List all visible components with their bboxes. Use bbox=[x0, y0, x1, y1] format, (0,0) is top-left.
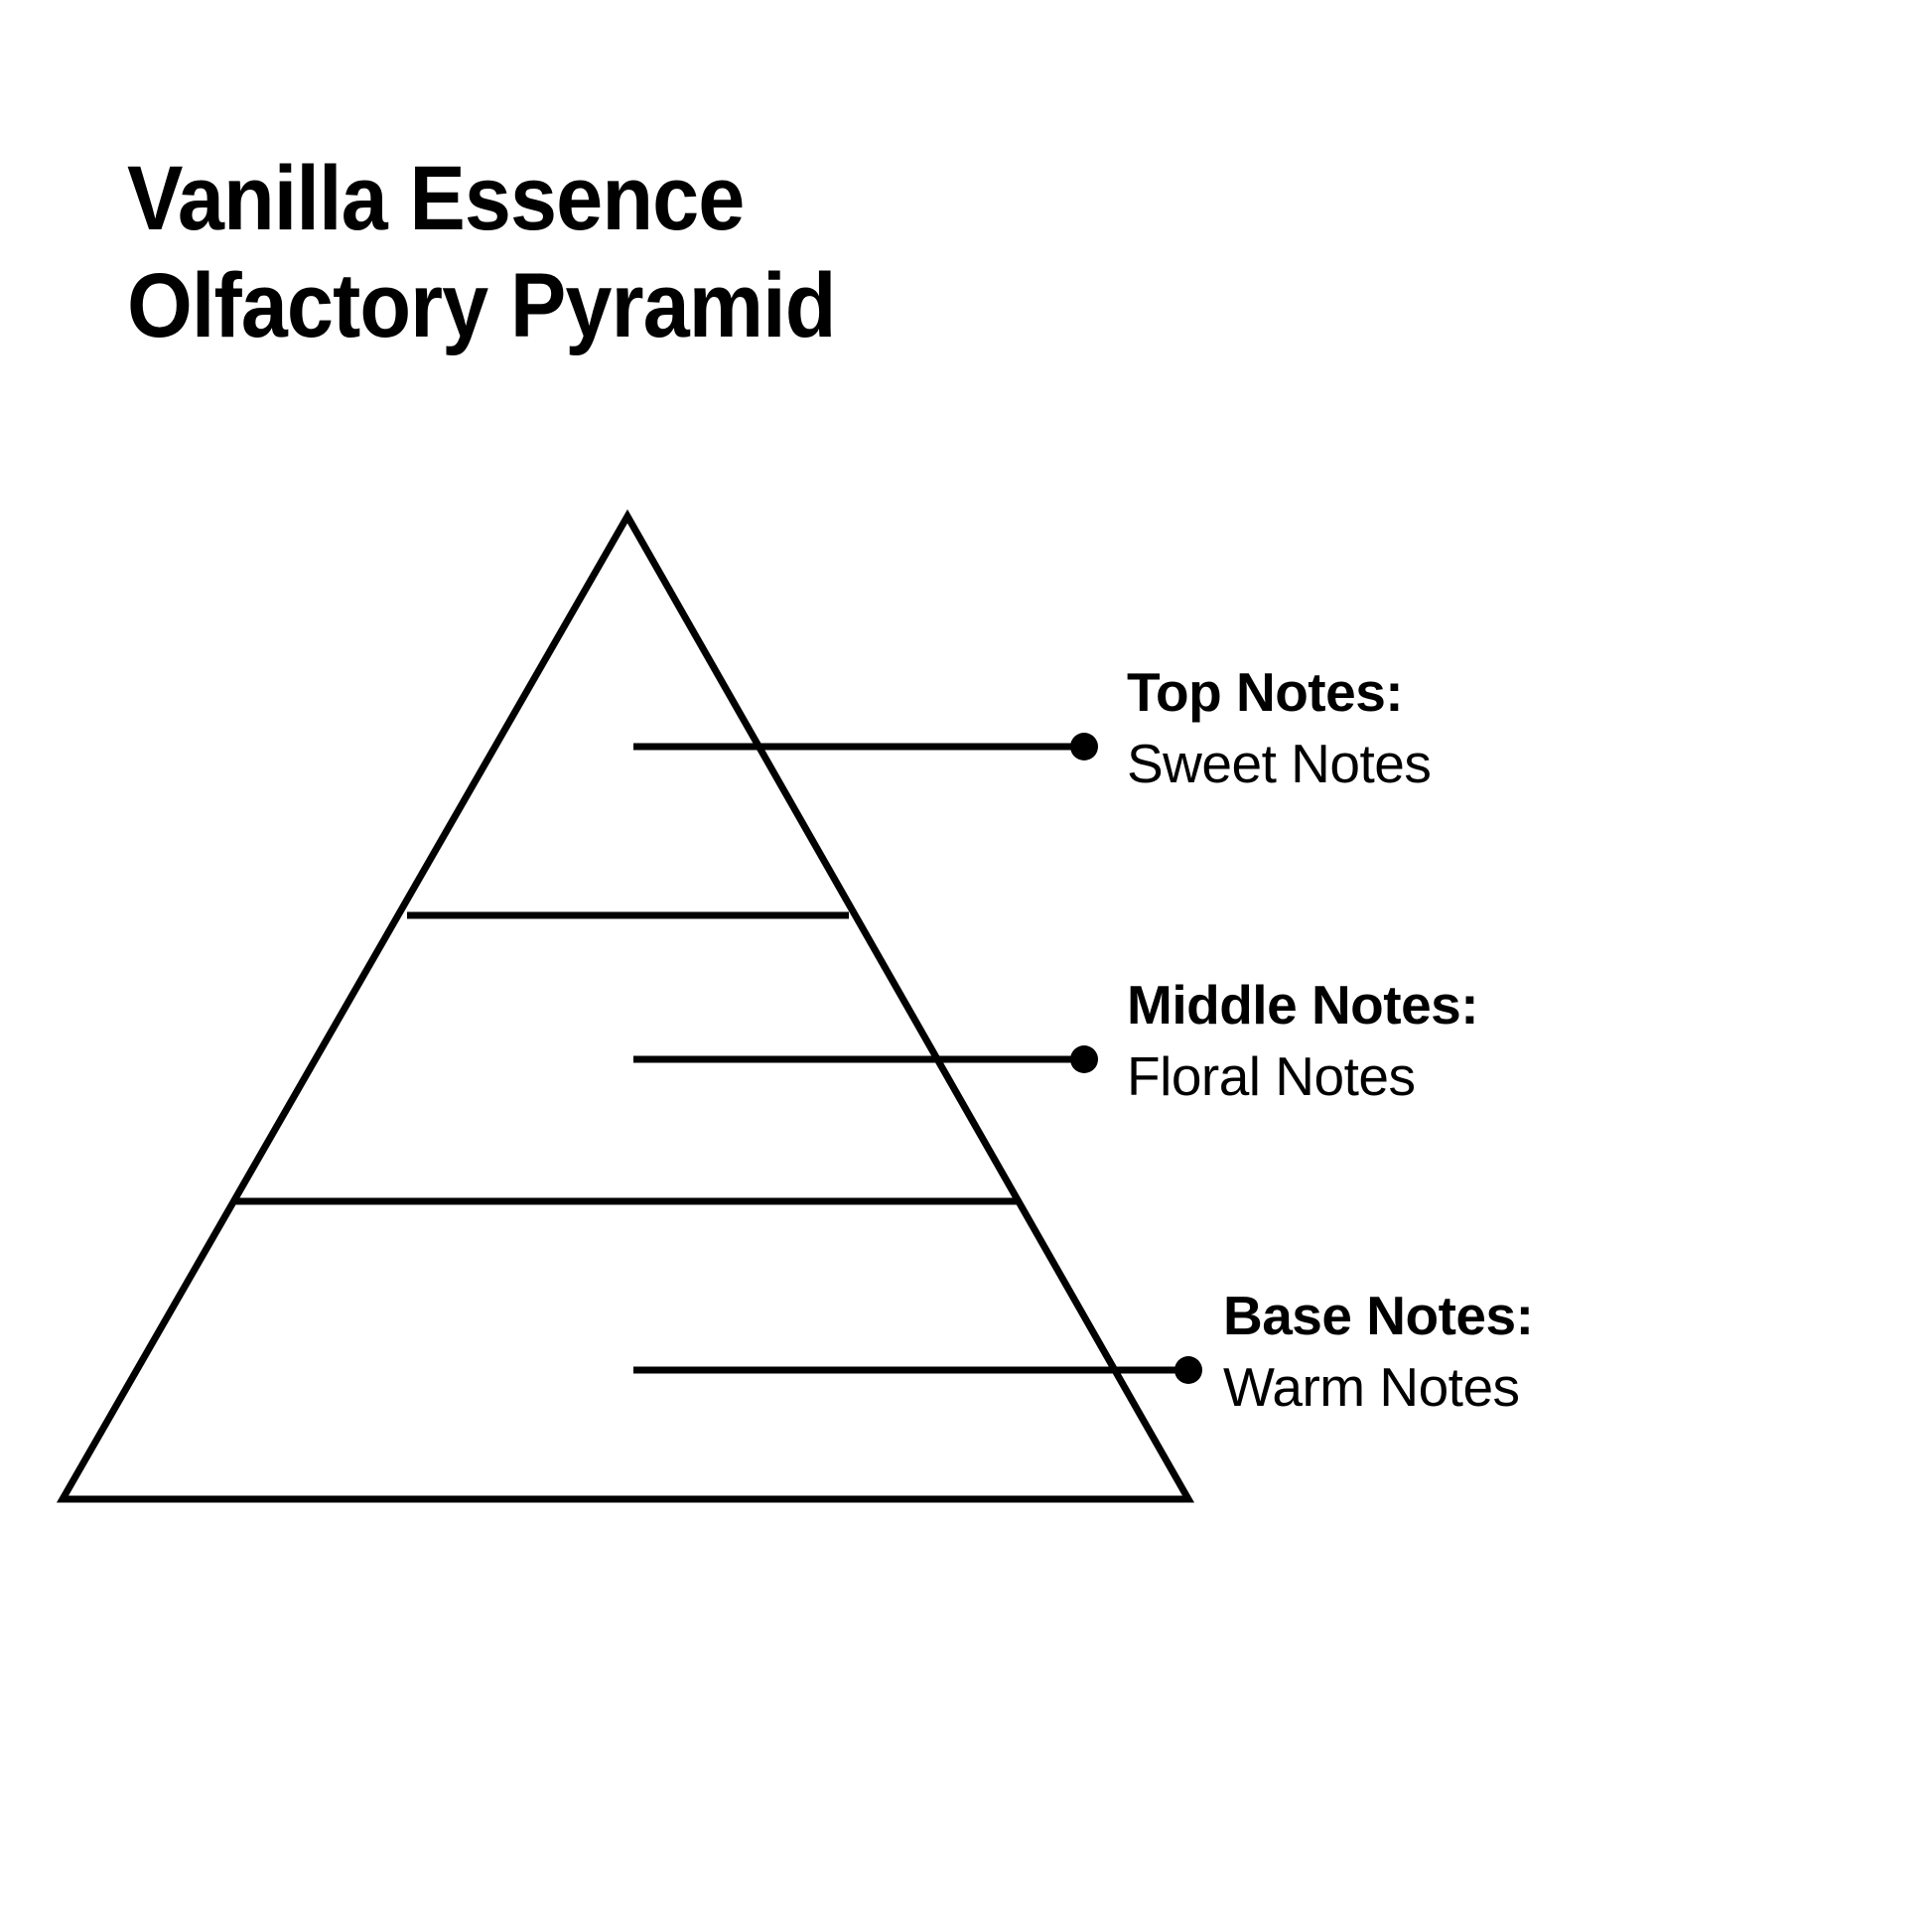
leader-dot-top-icon bbox=[1070, 733, 1098, 760]
callout-top-notes-heading: Top Notes: bbox=[1127, 657, 1431, 727]
callout-middle-notes: Middle Notes: Floral Notes bbox=[1127, 970, 1478, 1113]
leader-dot-middle-icon bbox=[1070, 1045, 1098, 1073]
leader-dot-base-icon bbox=[1174, 1356, 1202, 1384]
pyramid-outline bbox=[63, 516, 1188, 1499]
callout-base-notes: Base Notes: Warm Notes bbox=[1223, 1281, 1533, 1424]
callout-top-notes: Top Notes: Sweet Notes bbox=[1127, 657, 1431, 800]
callout-base-notes-heading: Base Notes: bbox=[1223, 1281, 1533, 1350]
callout-middle-notes-value: Floral Notes bbox=[1127, 1039, 1478, 1113]
pyramid-graphic bbox=[0, 0, 1932, 1932]
callout-base-notes-value: Warm Notes bbox=[1223, 1350, 1533, 1424]
olfactory-pyramid-diagram: Vanilla Essence Olfactory Pyramid Top No… bbox=[0, 0, 1932, 1932]
callout-top-notes-value: Sweet Notes bbox=[1127, 727, 1431, 800]
callout-middle-notes-heading: Middle Notes: bbox=[1127, 970, 1478, 1039]
